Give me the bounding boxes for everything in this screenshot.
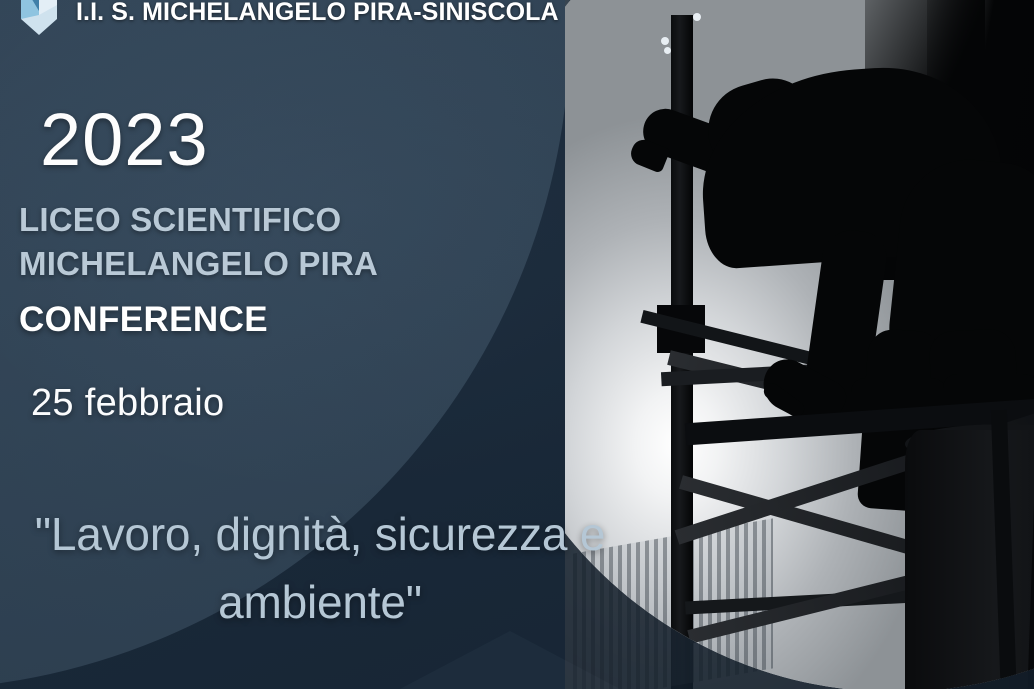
school-name-line1: LICEO SCIENTIFICO	[19, 198, 378, 242]
event-theme-quote: "Lavoro, dignità, sicurezza e ambiente"	[0, 500, 640, 636]
event-type-label: CONFERENCE	[19, 300, 268, 340]
event-date: 25 febbraio	[31, 382, 224, 425]
header-bar: I.I. S. MICHELANGELO PIRA-SINISCOLA	[0, 0, 1034, 34]
quote-line-1: "Lavoro, dignità, sicurezza e	[0, 500, 640, 568]
school-name: LICEO SCIENTIFICO MICHELANGELO PIRA	[19, 198, 378, 285]
poster-content: 2023 LICEO SCIENTIFICO MICHELANGELO PIRA…	[0, 0, 660, 689]
shield-logo-icon	[17, 0, 61, 39]
school-name-line2: MICHELANGELO PIRA	[19, 242, 378, 286]
page-title: I.I. S. MICHELANGELO PIRA-SINISCOLA	[76, 0, 559, 27]
decorative-dot	[661, 37, 669, 45]
decorative-dot	[664, 47, 671, 54]
conference-poster: I.I. S. MICHELANGELO PIRA-SINISCOLA 2023…	[0, 0, 1034, 689]
quote-line-2: ambiente"	[0, 568, 640, 636]
year-label: 2023	[40, 103, 209, 177]
